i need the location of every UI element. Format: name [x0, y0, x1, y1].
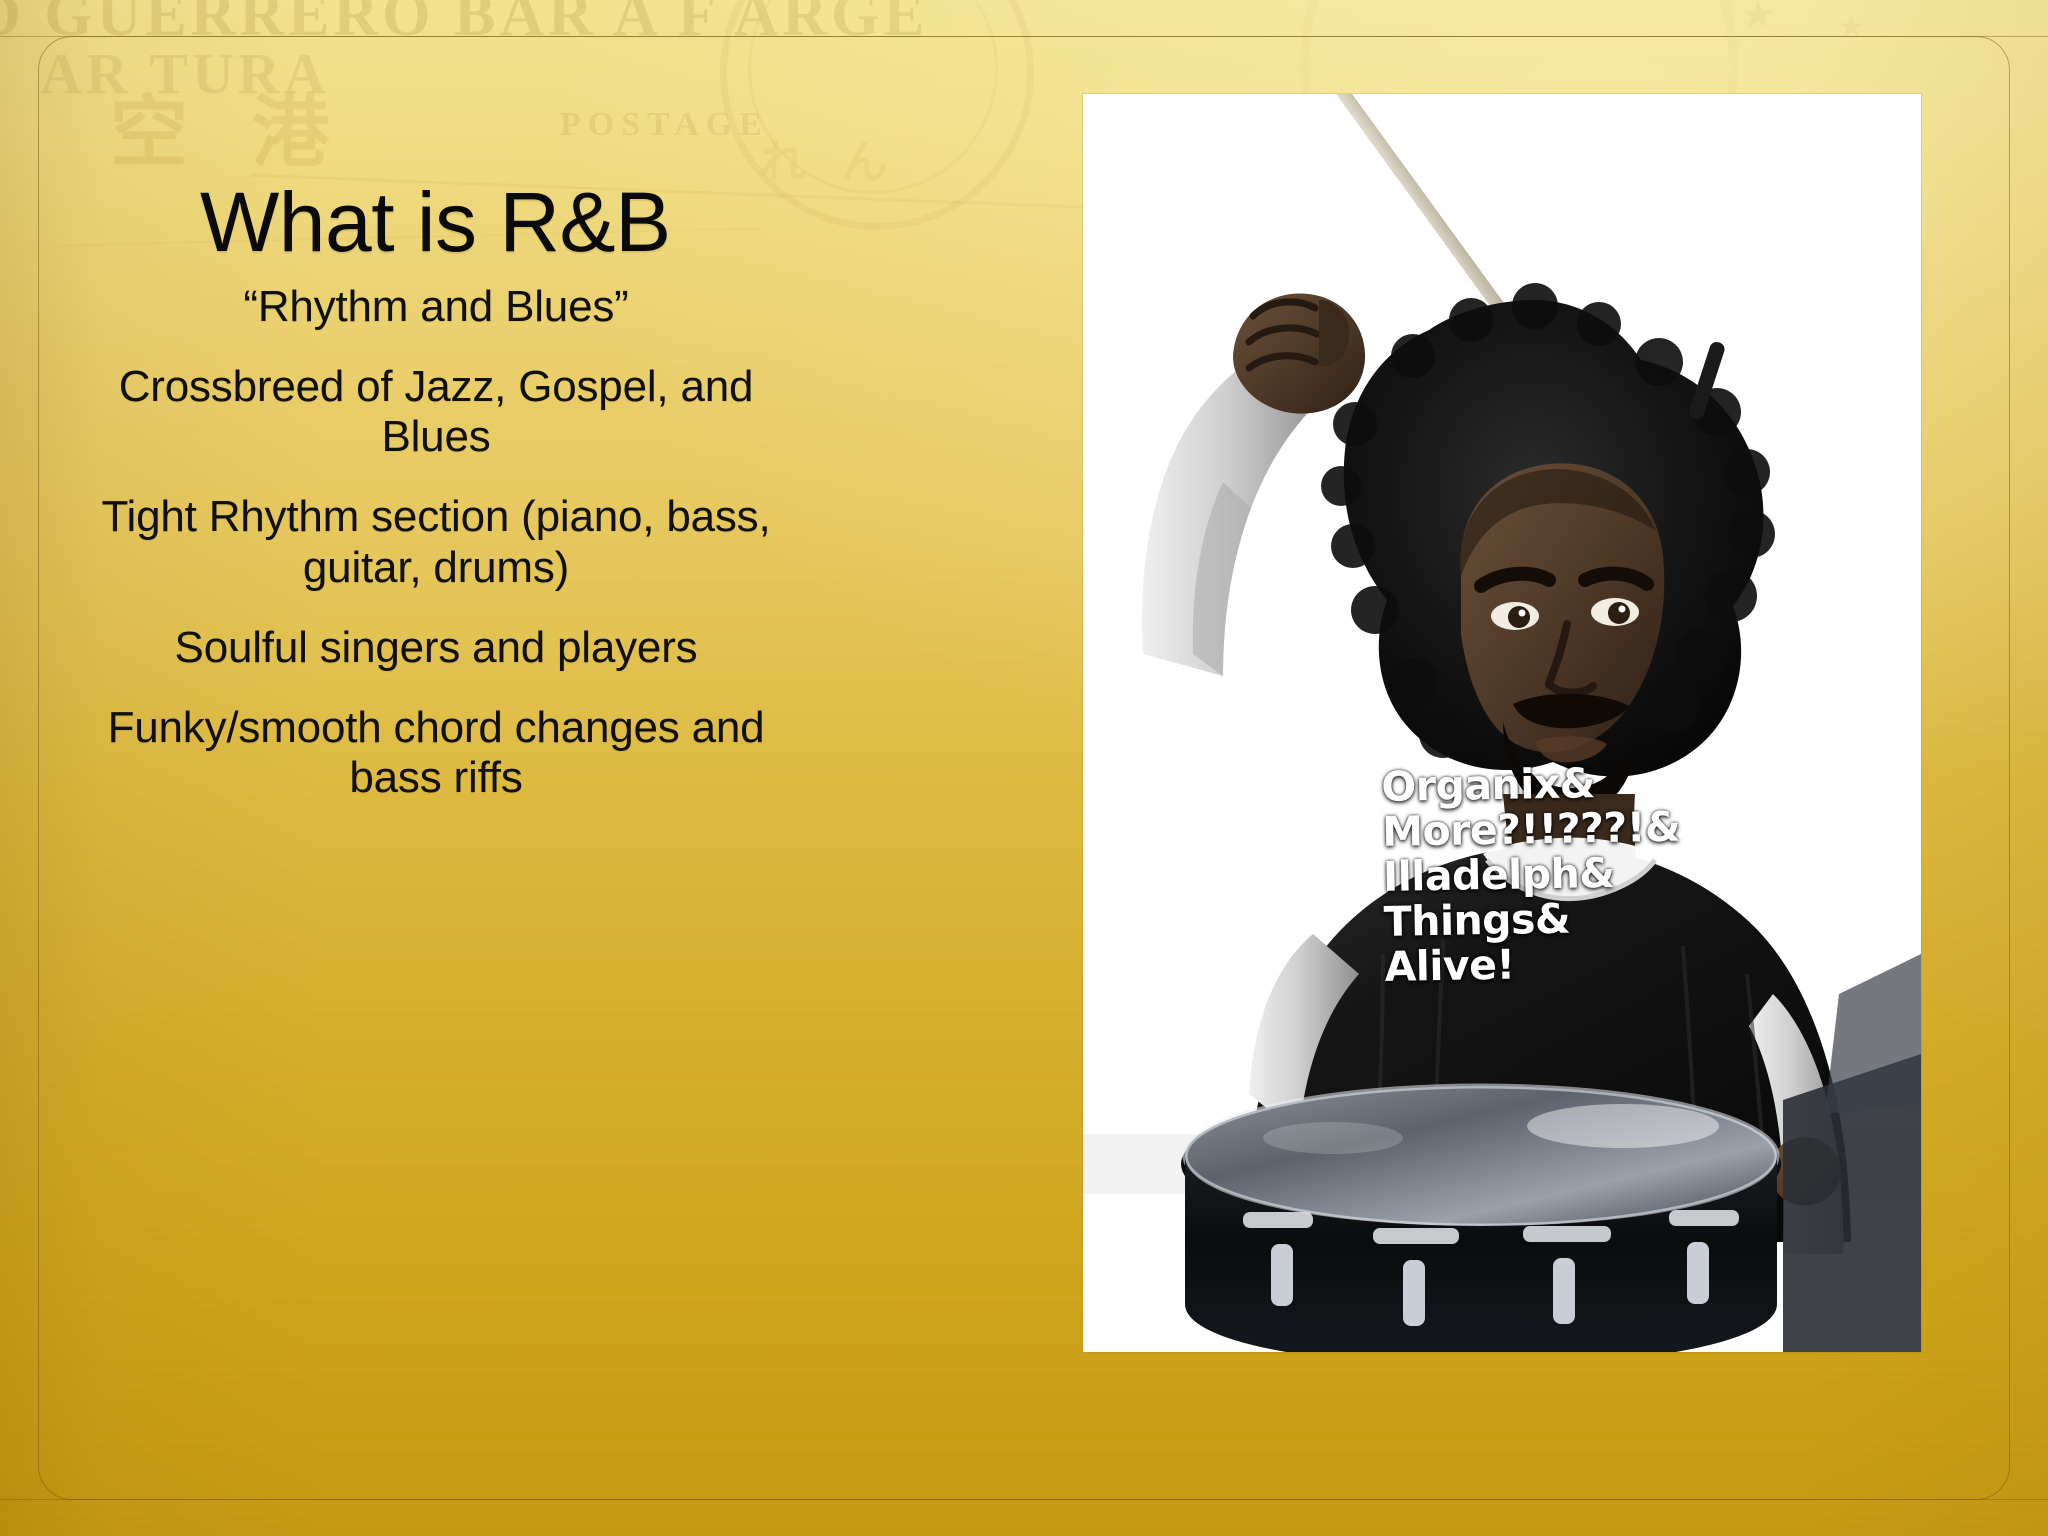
watermark-star-icon-2: ★: [1838, 10, 1865, 45]
frame-rule-bottom: [0, 1499, 2048, 1500]
tshirt-line: Things&: [1383, 894, 1714, 945]
tshirt-line: Illadelph&: [1383, 849, 1714, 900]
slide-title: What is R&B: [200, 180, 1020, 264]
tshirt-line: More?!!???!&: [1382, 804, 1713, 855]
watermark-cjk-1: 空 港: [110, 70, 352, 182]
watermark-line-1: D GUERRERO BAR A F ARGE: [0, 0, 929, 51]
drummer-photo: Organix& More?!!???!& Illadelph& Things&…: [1083, 94, 1921, 1352]
body-line: Funky/smooth chord changes and bass riff…: [96, 703, 776, 803]
body-line: Crossbreed of Jazz, Gospel, and Blues: [96, 362, 776, 462]
watermark-postage-label: POSTAGE: [560, 106, 769, 144]
drummer-illustration: [1083, 94, 1921, 1352]
body-line: “Rhythm and Blues”: [96, 282, 776, 332]
slide-body-text: “Rhythm and Blues” Crossbreed of Jazz, G…: [96, 282, 776, 803]
body-line: Tight Rhythm section (piano, bass, guita…: [96, 492, 776, 592]
tshirt-text: Organix& More?!!???!& Illadelph& Things&…: [1381, 759, 1715, 990]
tshirt-line: Alive!: [1384, 939, 1715, 990]
watermark-ring-inner-icon: [748, 0, 998, 194]
frame-rule-top: [0, 36, 2048, 37]
watermark-line-2: AR TURA: [40, 40, 330, 107]
body-line: Soulful singers and players: [96, 623, 776, 673]
slide-canvas: D GUERRERO BAR A F ARGE AR TURA 空 港 POST…: [0, 0, 2048, 1536]
watermark-star-icon: ★: [1740, 0, 1776, 38]
